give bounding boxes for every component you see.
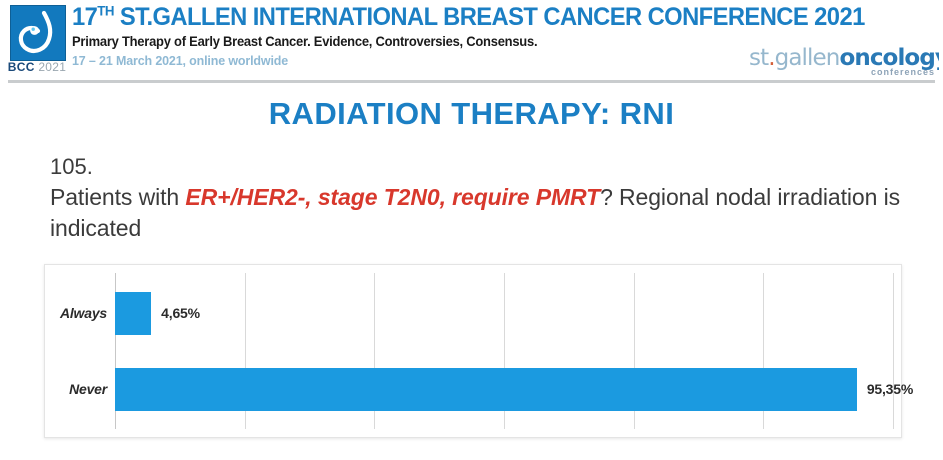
conference-title-ordinal: TH <box>97 3 114 19</box>
poll-results-chart: Always4,65%Never95,35% <box>44 264 902 438</box>
sgoc-part-gallen: gallen <box>775 45 840 71</box>
chart-bar-row: Always4,65% <box>45 292 901 335</box>
chart-bar <box>115 368 857 411</box>
conference-header: BCC 2021 17TH ST.GALLEN INTERNATIONAL BR… <box>0 0 943 82</box>
conference-dates: 17 – 21 March 2021, online worldwide <box>72 52 686 70</box>
bcc-logo-caption-year: 2021 <box>38 60 66 74</box>
chart-plot-area: Always4,65%Never95,35% <box>45 265 901 437</box>
page-title: RADIATION THERAPY: RNI <box>0 96 943 132</box>
question-number: 105. <box>50 152 910 182</box>
question-highlight-1: ER+/HER2-, stage T2N0, require PMRT <box>185 184 600 210</box>
stgallen-oncology-logo: st.gallenoncology conferences <box>749 45 939 79</box>
stgallen-oncology-logo-subtext: conferences <box>871 67 935 77</box>
conference-title-rest: ST.GALLEN INTERNATIONAL BREAST CANCER CO… <box>114 3 865 31</box>
chart-bar-row: Never95,35% <box>45 368 901 411</box>
question-block: 105. Patients with ER+/HER2-, stage T2N0… <box>50 152 910 244</box>
sgoc-part-st: st <box>749 45 768 71</box>
chart-category-label: Always <box>45 305 107 321</box>
bcc-droplet-logo-icon <box>10 5 66 61</box>
chart-category-label: Never <box>45 381 107 397</box>
bcc-logo-block: BCC 2021 <box>6 5 68 77</box>
chart-value-label: 4,65% <box>161 305 200 321</box>
header-text-block: 17TH ST.GALLEN INTERNATIONAL BREAST CANC… <box>72 4 712 70</box>
conference-title: 17TH ST.GALLEN INTERNATIONAL BREAST CANC… <box>72 4 680 31</box>
question-text: Patients with ER+/HER2-, stage T2N0, req… <box>50 182 910 244</box>
bcc-logo-caption-bold: BCC <box>8 60 35 74</box>
header-divider <box>8 80 935 83</box>
chart-value-label: 95,35% <box>867 381 913 397</box>
question-plain-0: Patients with <box>50 184 185 210</box>
chart-bar <box>115 292 151 335</box>
conference-subtitle: Primary Therapy of Early Breast Cancer. … <box>72 33 686 51</box>
bcc-logo-caption: BCC 2021 <box>6 60 68 74</box>
conference-title-number: 17 <box>72 3 97 31</box>
